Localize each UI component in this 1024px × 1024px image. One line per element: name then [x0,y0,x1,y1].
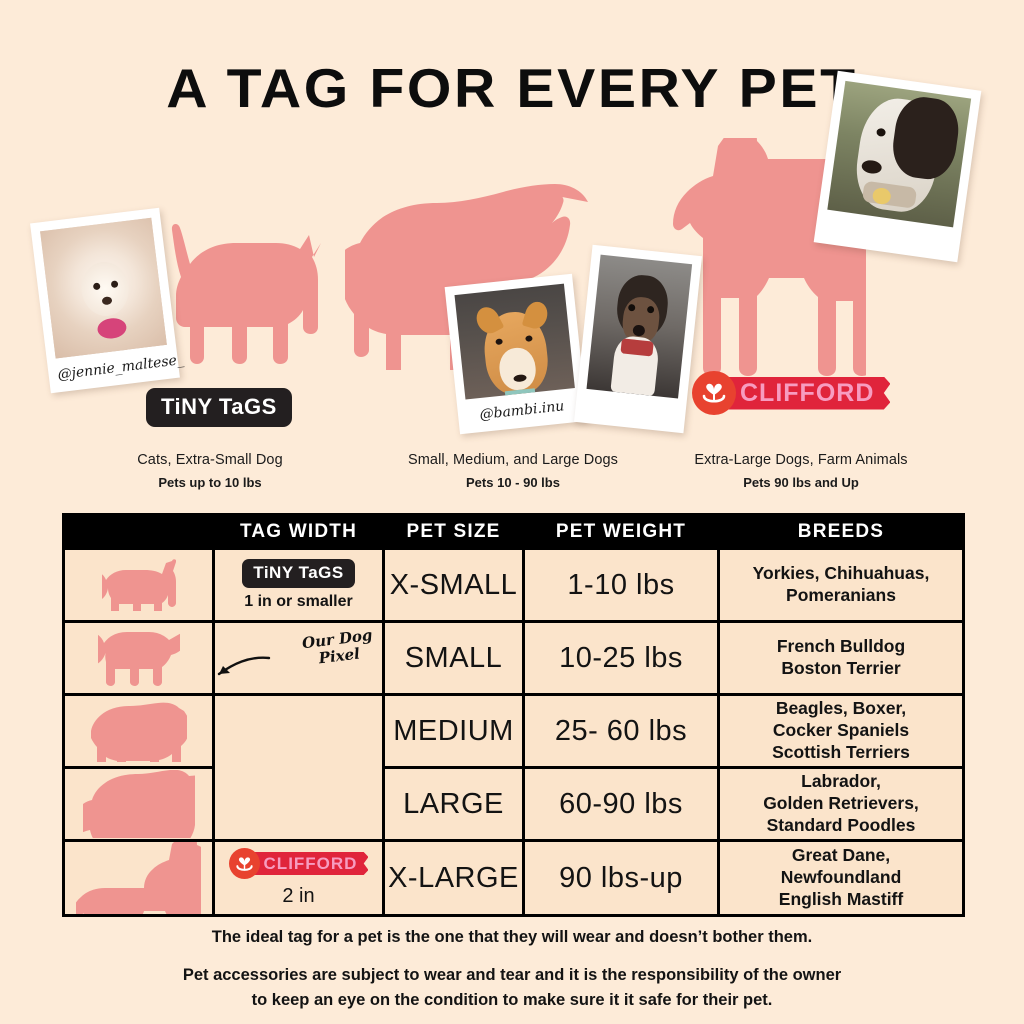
table-row: TiNY TaGS 1 in or smaller X-SMALL 1-10 l… [64,549,964,622]
tiny-tags-label: TiNY TaGS [146,388,292,427]
clifford-heart-icon [229,848,260,879]
table-row: CLIFFORD 2 in X-LARGE 90 lbs-up Great Da… [64,841,964,916]
header-icon-blank [64,515,214,549]
pet-size-value: X-LARGE [384,841,524,916]
table-row: LARGE 60-90 lbs Labrador, Golden Retriev… [64,768,964,841]
maltese-photo [40,218,167,359]
row-tag-width-cell: TiNY TaGS 1 in or smaller [214,549,384,622]
breeds-value: Yorkies, Chihuahuas, Pomeranians [719,549,964,622]
clifford-wordmark: CLIFFORD [726,377,890,410]
table-header-row: TAG WIDTH PET SIZE PET WEIGHT BREEDS [64,515,964,549]
bambi-inu-polaroid[interactable]: @bambi.inu [445,274,588,435]
clifford-brand-badge[interactable]: CLIFFORD [692,371,890,415]
beagle-glyph [91,700,187,762]
row-icon-cell [64,841,214,916]
pet-size-value: MEDIUM [384,695,524,768]
clifford-badge-small: CLIFFORD [229,848,369,879]
tag-width-value: 2 in [221,885,376,908]
row-icon-cell [64,768,214,841]
pet-weight-value: 10-25 lbs [524,622,719,695]
footer-line-2: Pet accessories are subject to wear and … [0,963,1024,988]
row-icon-cell [64,695,214,768]
category-line2: Pets up to 10 lbs [60,475,360,490]
header-pet-weight: PET WEIGHT [524,515,719,549]
category-line1: Extra-Large Dogs, Farm Animals [636,452,966,468]
header-pet-size: PET SIZE [384,515,524,549]
header-tag-width: TAG WIDTH [214,515,384,549]
breeds-value: French Bulldog Boston Terrier [719,622,964,695]
pet-weight-value: 60-90 lbs [524,768,719,841]
breeds-value: Beagles, Boxer, Cocker Spaniels Scottish… [719,695,964,768]
annotation-arrow-icon [209,654,271,684]
clifford-wordmark: CLIFFORD [250,852,369,875]
pet-weight-value: 90 lbs-up [524,841,719,916]
pet-size-table: TAG WIDTH PET SIZE PET WEIGHT BREEDS TiN… [62,513,965,917]
cat-silhouette [168,212,328,377]
pet-size-value: LARGE [384,768,524,841]
row-icon-cell [64,549,214,622]
footer-line-1: The ideal tag for a pet is the one that … [0,928,1024,947]
category-caption-medium: Small, Medium, and Large Dogs Pets 10 - … [348,452,678,490]
our-dog-pixel-script: Our Dog Pixel [302,627,376,670]
springer-spaniel-polaroid[interactable] [814,71,982,262]
category-caption-small: Cats, Extra-Small Dog Pets up to 10 lbs [60,452,360,490]
shiba-photo [455,284,575,400]
category-line1: Small, Medium, and Large Dogs [348,452,678,468]
header-breeds: BREEDS [719,515,964,549]
great-dane-silhouette [65,842,212,914]
springer-photo [827,81,971,227]
golden-retriever-glyph [83,770,195,838]
tiny-tags-brand-badge[interactable]: TiNY TaGS [146,388,292,427]
category-caption-large: Extra-Large Dogs, Farm Animals Pets 90 l… [636,452,966,490]
great-dane-glyph [76,842,201,914]
small-fluffy-dog-glyph [98,630,180,686]
jack-russell-polaroid[interactable] [574,245,702,434]
tiny-tags-badge-small: TiNY TaGS [242,559,354,588]
breeds-value: Labrador, Golden Retrievers, Standard Po… [719,768,964,841]
category-line2: Pets 10 - 90 lbs [348,475,678,490]
hero-section: @jennie_maltese_ @bambi.inu [0,0,1024,500]
beagle-silhouette [65,700,212,762]
category-line2: Pets 90 lbs and Up [636,475,966,490]
table-row: Our Dog Pixel SMALL 10-25 lbs French Bul… [64,622,964,695]
small-fluffy-dog-silhouette [65,630,212,686]
category-line1: Cats, Extra-Small Dog [60,452,360,468]
table-row: MEDIUM 25- 60 lbs Beagles, Boxer, Cocker… [64,695,964,768]
heart-tulip-glyph [235,854,254,874]
row-tag-width-cell: CLIFFORD 2 in [214,841,384,916]
chihuahua-glyph [102,559,176,611]
jack-russell-photo [587,255,693,399]
pixel-annotation: Our Dog Pixel [215,623,382,693]
pet-size-value: SMALL [384,622,524,695]
row-icon-cell [64,622,214,695]
golden-retriever-silhouette [65,770,212,838]
pet-weight-value: 1-10 lbs [524,549,719,622]
breeds-value: Great Dane, Newfoundland English Mastiff [719,841,964,916]
tag-width-shared-value [214,695,384,841]
pet-size-value: X-SMALL [384,549,524,622]
chihuahua-silhouette [65,559,212,611]
infographic-page: A TAG FOR EVERY PET @jennie_maltese_ [0,0,1024,1024]
heart-tulip-glyph [701,379,727,407]
pet-weight-value: 25- 60 lbs [524,695,719,768]
footer-disclaimer: The ideal tag for a pet is the one that … [0,928,1024,1013]
clifford-heart-icon [692,371,736,415]
footer-line-3: to keep an eye on the condition to make … [0,988,1024,1013]
tag-width-value: 1 in or smaller [221,593,376,611]
row-tag-width-cell-annotation: Our Dog Pixel [214,622,384,695]
jennie-maltese-polaroid[interactable]: @jennie_maltese_ [30,208,180,394]
